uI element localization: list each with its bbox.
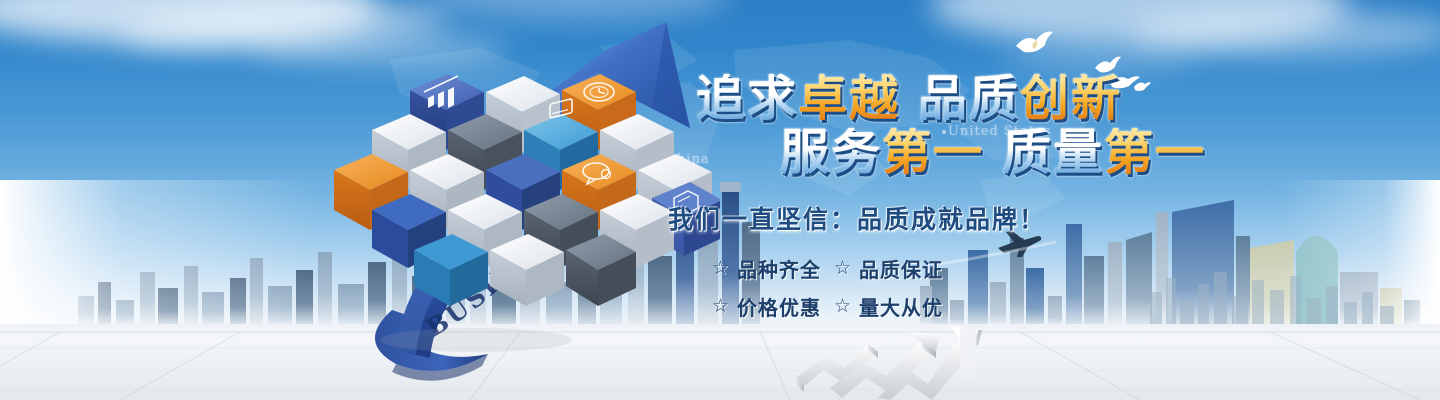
feature-item: ☆ 品种齐全 (712, 254, 834, 283)
headline-word: 创新 (1020, 74, 1122, 124)
headline-line-1: 追求卓越品质创新 (696, 74, 1220, 124)
headline-word: 卓越 (798, 74, 900, 124)
star-icon: ☆ (712, 259, 730, 278)
headline-word: 品质 (918, 74, 1020, 124)
subtitle: 我们一直坚信：品质成就品牌！ (668, 200, 1220, 236)
feature-item: ☆ 量大从优 (834, 292, 956, 321)
star-icon: ☆ (712, 297, 730, 316)
feature-item: ☆ 品质保证 (834, 254, 956, 283)
headline-word: 第一 (882, 128, 984, 178)
feature-item: ☆ 价格优惠 (712, 292, 834, 321)
star-icon: ☆ (834, 259, 852, 278)
floor-perspective-lines (0, 324, 1440, 400)
headline-line-2: 服务第一质量第一 (780, 128, 1220, 178)
feature-list: ☆ 品种齐全 ☆ 品质保证 ☆ 价格优惠 ☆ 量大从优 (712, 254, 1220, 321)
feature-row: ☆ 价格优惠 ☆ 量大从优 (712, 292, 1220, 321)
feature-label: 量大从优 (859, 292, 943, 321)
headline-word: 服务 (780, 128, 882, 178)
headline-word: 追求 (696, 74, 798, 124)
promo-banner: Europe United States China Australia (0, 0, 1440, 400)
headline-word: 质量 (1002, 128, 1104, 178)
feature-label: 价格优惠 (737, 292, 821, 321)
floor-surface (0, 324, 1440, 400)
headline-copy-block: 追求卓越品质创新 服务第一质量第一 我们一直坚信：品质成就品牌！ ☆ 品种齐全 … (660, 74, 1220, 330)
headline-word: 第一 (1104, 128, 1206, 178)
star-icon: ☆ (834, 297, 852, 316)
growth-arrows-graphic (782, 322, 1002, 400)
feature-label: 品质保证 (859, 254, 943, 283)
feature-label: 品种齐全 (737, 254, 821, 283)
business-cube-arrow-graphic: BUSINESS (300, 10, 720, 390)
feature-row: ☆ 品种齐全 ☆ 品质保证 (712, 254, 1220, 283)
